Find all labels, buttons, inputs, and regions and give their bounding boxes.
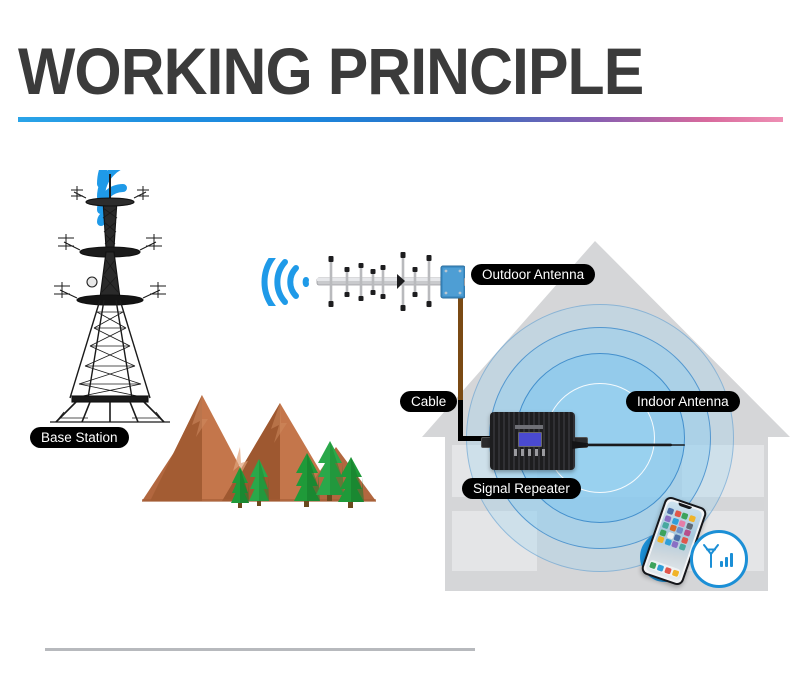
smartphone-group <box>640 500 740 585</box>
label-base-station: Base Station <box>30 427 129 448</box>
mountains-and-trees <box>140 385 390 510</box>
antenna-signal-bars-icon <box>700 542 738 572</box>
repeater-control-buttons <box>514 449 546 456</box>
title-gradient-rule <box>18 117 783 122</box>
outdoor-wifi-icon <box>260 258 312 306</box>
label-indoor-antenna: Indoor Antenna <box>626 391 740 412</box>
repeater-brand-strip <box>515 425 543 429</box>
cable-vertical-segment <box>458 400 463 440</box>
label-outdoor-antenna: Outdoor Antenna <box>471 264 595 285</box>
phone-signal-badge <box>690 530 748 588</box>
footer-divider <box>45 648 475 651</box>
label-cable: Cable <box>400 391 457 412</box>
outdoor-yagi-antenna <box>315 252 465 312</box>
diagram-page: WORKING PRINCIPLE <box>0 0 800 677</box>
label-signal-repeater: Signal Repeater <box>462 478 581 499</box>
signal-repeater-unit <box>490 412 575 470</box>
page-title: WORKING PRINCIPLE <box>18 38 643 104</box>
indoor-whip-antenna <box>572 436 687 444</box>
repeater-lcd-display <box>518 432 542 447</box>
